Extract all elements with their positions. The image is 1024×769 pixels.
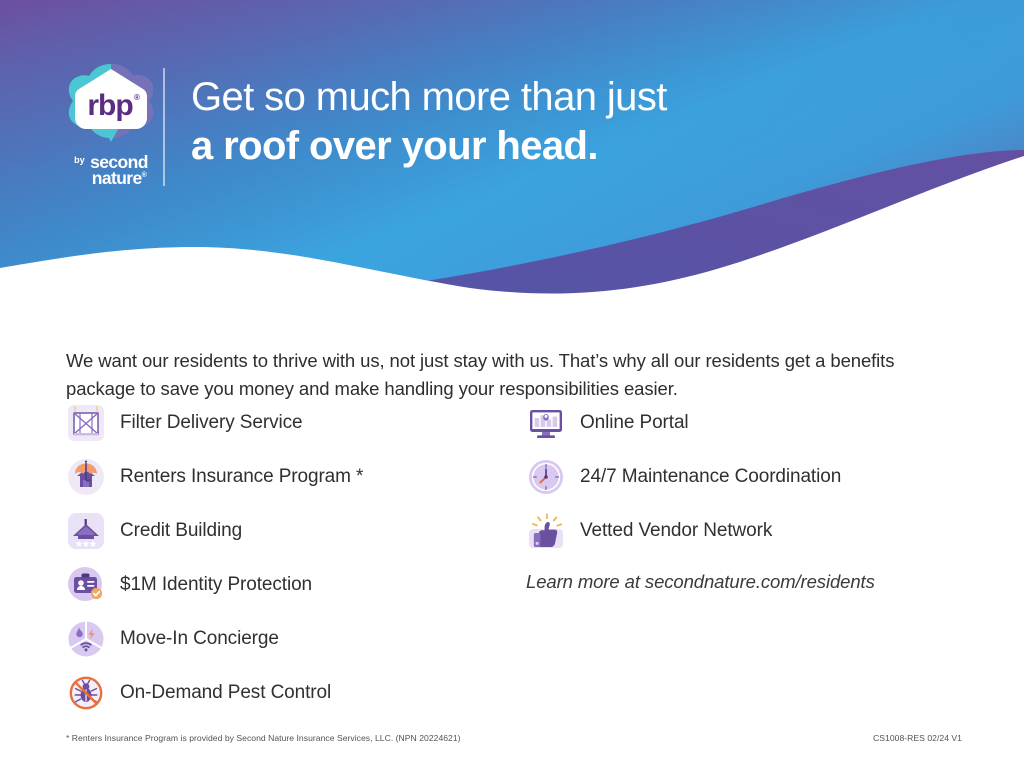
logo-headline-divider: [163, 68, 165, 186]
headline-line-2: a roof over your head.: [191, 123, 891, 170]
benefit-label: Online Portal: [580, 412, 689, 434]
benefits-column-right: Online Portal 24/7 Maintenance: [526, 396, 986, 558]
benefits-column-left: Filter Delivery Service Renters Insuranc…: [66, 396, 516, 720]
benefit-item: 24/7 Maintenance Coordination: [526, 450, 986, 504]
benefit-label: Renters Insurance Program *: [120, 466, 363, 488]
logo-brand-tm: ®: [142, 172, 147, 179]
desktop-monitor-icon: [526, 403, 566, 443]
flyer-page: rbp ® by second nature® Get so much more…: [0, 0, 1024, 769]
air-filter-icon: [66, 403, 106, 443]
rbp-badge-icon: rbp ®: [65, 62, 157, 150]
learn-more-text: Learn more at secondnature.com/residents: [526, 571, 875, 593]
utilities-wifi-icon: [66, 619, 106, 659]
logo-brand-text: second nature®: [90, 154, 148, 186]
benefit-label: Move-In Concierge: [120, 628, 279, 650]
headline-line-1: Get so much more than just: [191, 74, 891, 121]
umbrella-house-icon: [66, 457, 106, 497]
document-code: CS1008-RES 02/24 V1: [873, 733, 962, 743]
no-pest-icon: [66, 673, 106, 713]
benefit-item: Filter Delivery Service: [66, 396, 516, 450]
benefit-label: $1M Identity Protection: [120, 574, 312, 596]
benefit-item: On-Demand Pest Control: [66, 666, 516, 720]
logo-brand-line2: nature®: [90, 170, 148, 186]
benefit-item: $1M Identity Protection: [66, 558, 516, 612]
benefit-label: Filter Delivery Service: [120, 412, 302, 434]
footnote-text: * Renters Insurance Program is provided …: [66, 733, 461, 743]
benefit-label: 24/7 Maintenance Coordination: [580, 466, 841, 488]
svg-text:®: ®: [134, 93, 140, 102]
id-badge-check-icon: [66, 565, 106, 605]
benefit-label: On-Demand Pest Control: [120, 682, 331, 704]
clock-icon: [526, 457, 566, 497]
hero-banner: rbp ® by second nature® Get so much more…: [0, 0, 1024, 300]
intro-paragraph: We want our residents to thrive with us,…: [66, 347, 946, 403]
rbp-logo-lockup: rbp ® by second nature®: [60, 62, 162, 187]
thumbs-up-icon: [526, 511, 566, 551]
svg-text:rbp: rbp: [87, 89, 133, 122]
benefit-item: Renters Insurance Program *: [66, 450, 516, 504]
benefit-item: Online Portal: [526, 396, 986, 450]
credit-stars-icon: [66, 511, 106, 551]
benefit-item: Move-In Concierge: [66, 612, 516, 666]
logo-by-text: by: [74, 156, 85, 165]
hero-headline: Get so much more than just a roof over y…: [191, 74, 891, 170]
benefit-item: Credit Building: [66, 504, 516, 558]
benefit-item: Vetted Vendor Network: [526, 504, 986, 558]
benefit-label: Credit Building: [120, 520, 242, 542]
benefit-label: Vetted Vendor Network: [580, 520, 772, 542]
